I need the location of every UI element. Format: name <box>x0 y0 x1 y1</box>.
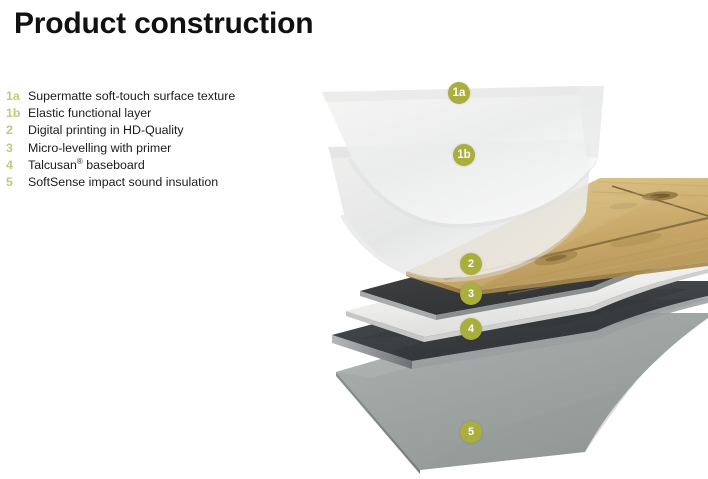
badge-3[interactable]: 3 <box>460 283 482 305</box>
legend-label: SoftSense impact sound insulation <box>28 175 218 189</box>
badge-4[interactable]: 4 <box>460 318 482 340</box>
badge-1b[interactable]: 1b <box>453 144 475 166</box>
legend-label: Digital printing in HD-Quality <box>28 123 184 137</box>
legend-number: 5 <box>6 175 28 189</box>
layer-softsense-impact-sound-insulation <box>336 313 708 474</box>
legend-item-3: 3 Micro-levelling with primer <box>6 141 276 158</box>
badge-1a[interactable]: 1a <box>448 82 470 104</box>
legend-label: Supermatte soft-touch surface texture <box>28 89 235 103</box>
legend-item-5: 5 SoftSense impact sound insulation <box>6 175 276 192</box>
legend-item-4: 4 Talcusan® baseboard <box>6 158 276 175</box>
layer-stack-diagram <box>0 0 708 479</box>
legend-label-tail: baseboard <box>83 158 145 172</box>
badge-5[interactable]: 5 <box>460 421 482 443</box>
legend-label: Micro-levelling with primer <box>28 141 171 155</box>
legend-number: 1a <box>6 89 28 103</box>
layer-micro-levelling-with-primer <box>346 258 708 342</box>
layer-digital-printing-hd-quality <box>406 178 708 296</box>
legend-item-1b: 1b Elastic functional layer <box>6 106 276 123</box>
legend-number: 3 <box>6 141 28 155</box>
legend-label: Talcusan® baseboard <box>28 158 145 172</box>
legend-list: 1a Supermatte soft-touch surface texture… <box>6 89 276 192</box>
legend-label-text: Talcusan <box>28 158 77 172</box>
page-title: Product construction <box>14 7 313 41</box>
legend-item-2: 2 Digital printing in HD-Quality <box>6 123 276 140</box>
product-construction-figure: Product construction 1a Supermatte soft-… <box>0 0 708 479</box>
wood-grain-texture <box>406 182 708 294</box>
legend-number: 1b <box>6 106 28 120</box>
badge-2[interactable]: 2 <box>460 253 482 275</box>
legend-label: Elastic functional layer <box>28 106 151 120</box>
legend-number: 4 <box>6 158 28 172</box>
legend-item-1a: 1a Supermatte soft-touch surface texture <box>6 89 276 106</box>
layer-primer-underfilm <box>360 240 708 320</box>
layer-talcusan-baseboard <box>332 281 708 369</box>
legend-number: 2 <box>6 123 28 137</box>
